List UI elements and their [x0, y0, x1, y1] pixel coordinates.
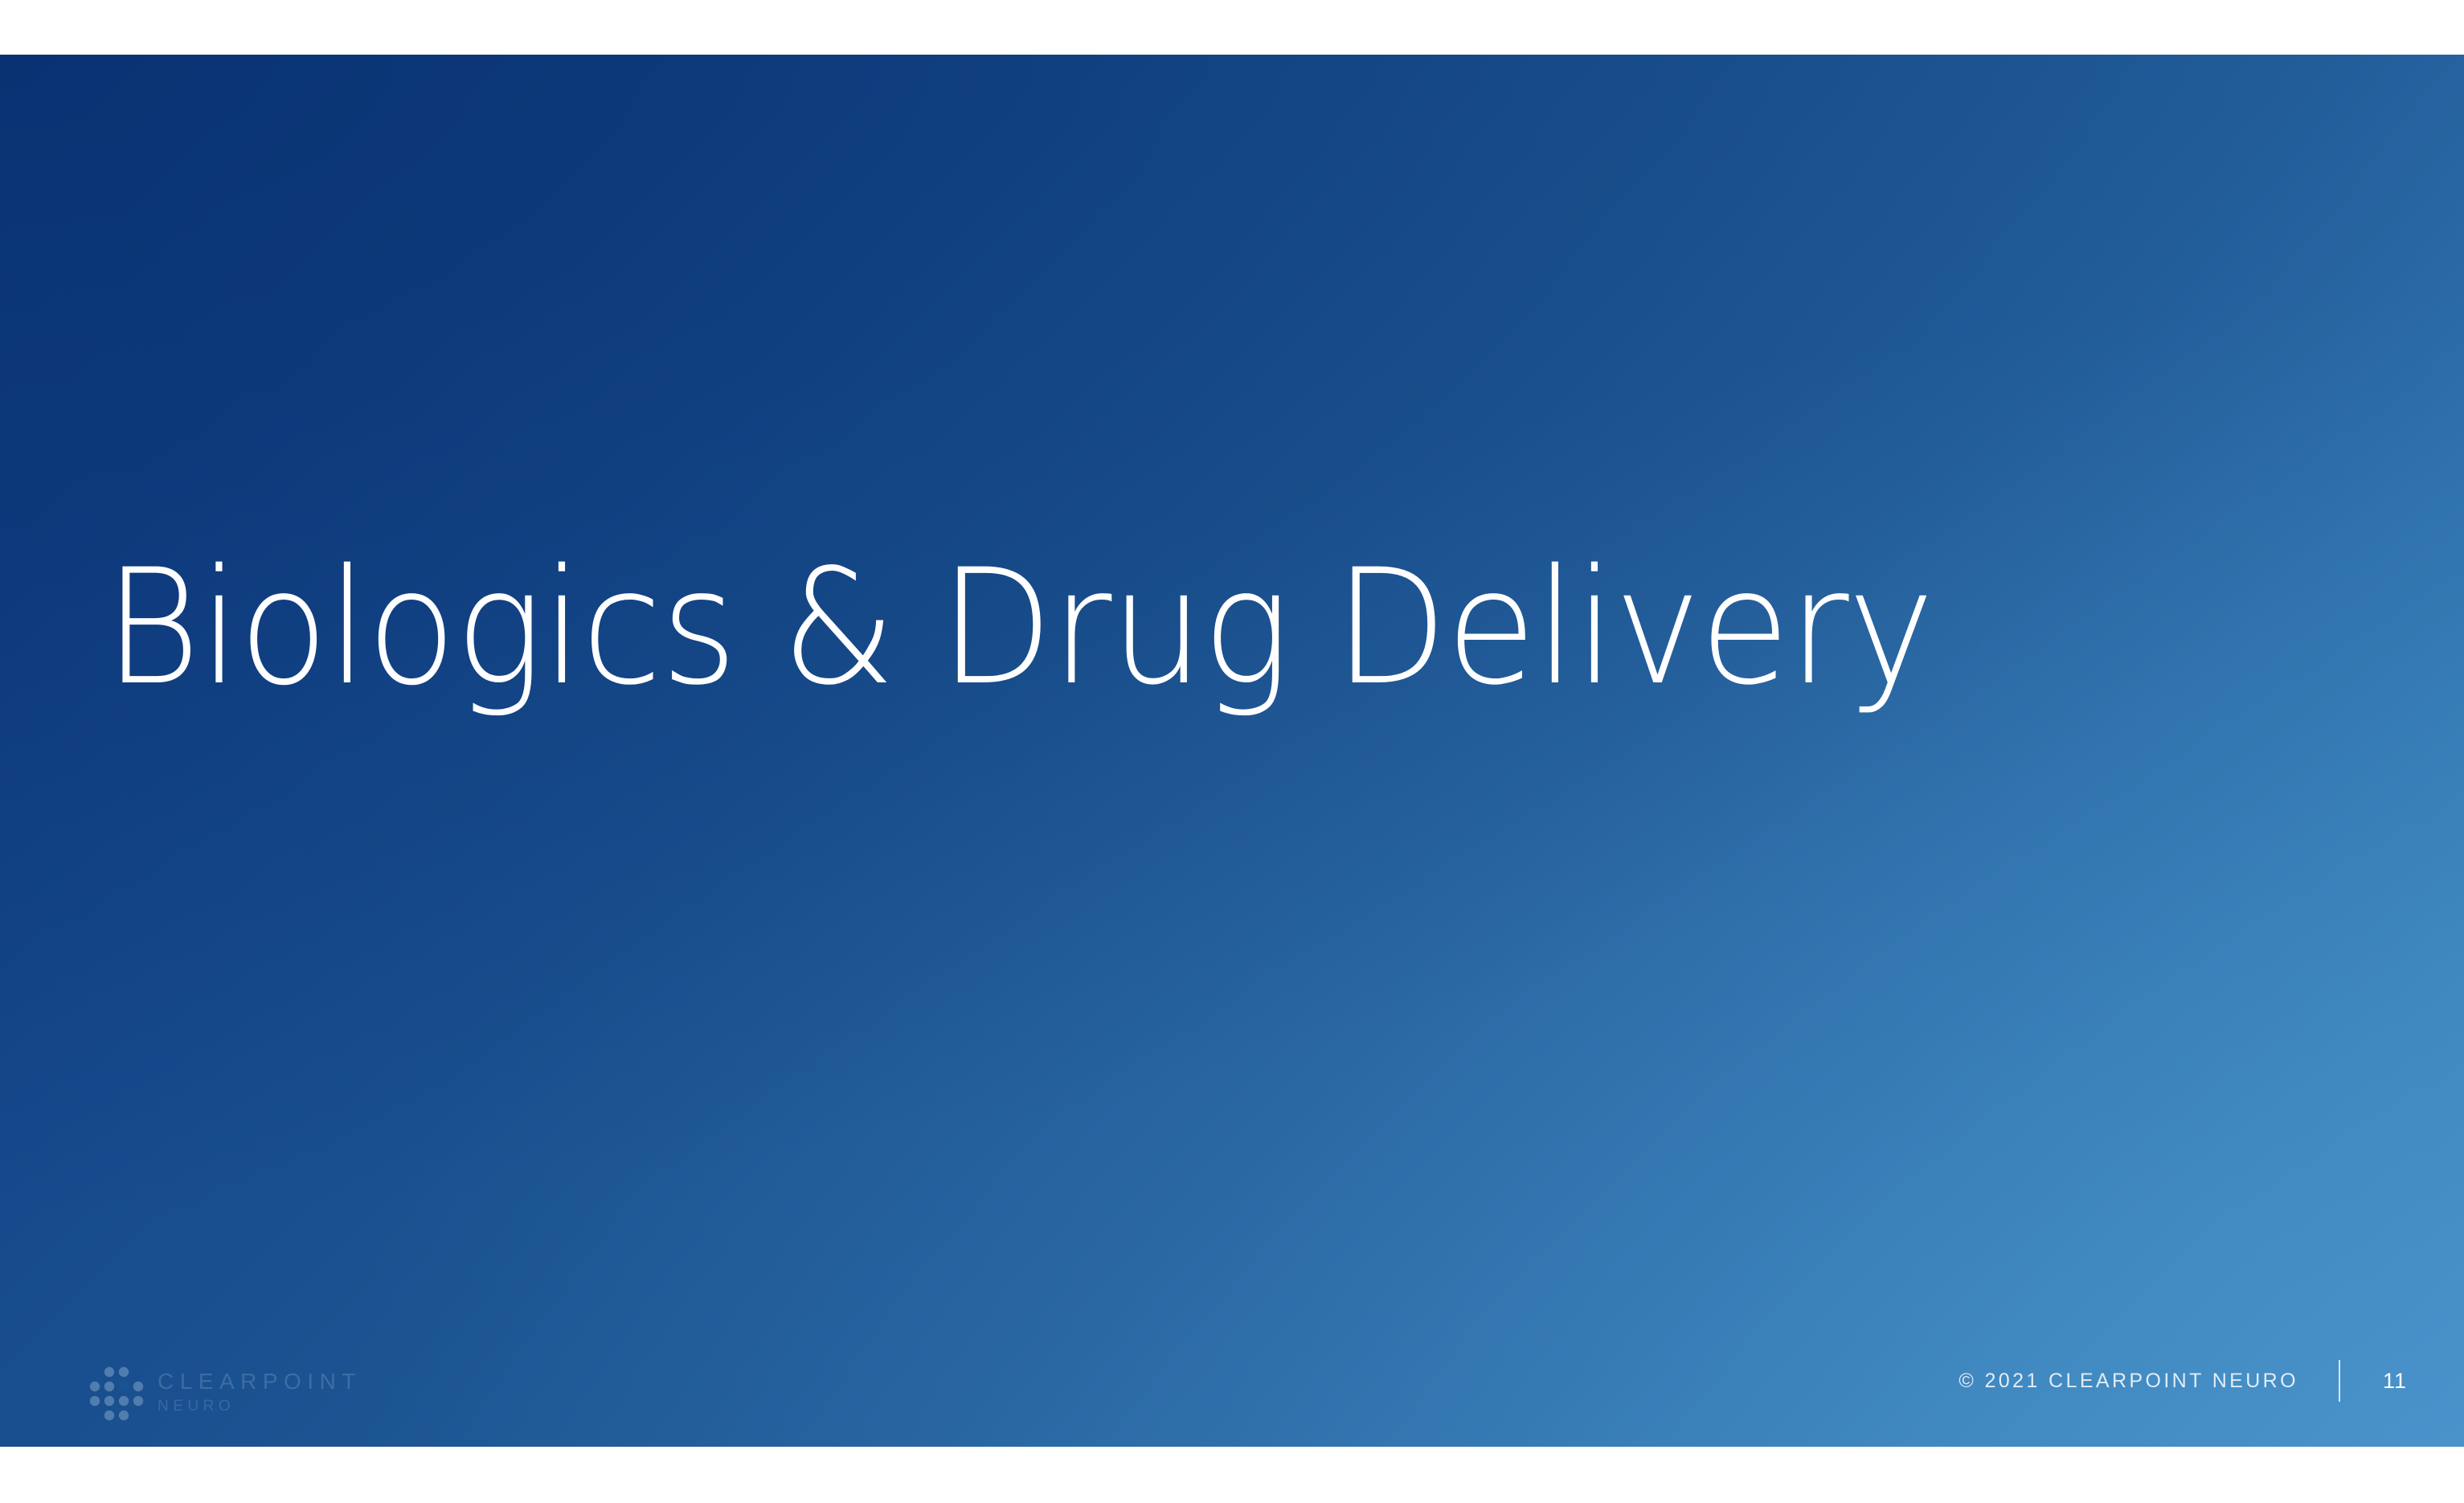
slide-footer: © 2021 CLEARPOINT NEURO 11: [1959, 1353, 2411, 1409]
page-title: Biologics & Drug Delivery: [104, 543, 1953, 712]
logo-name: CLEARPOINT: [158, 1370, 362, 1393]
dot-diamond-icon: [87, 1363, 146, 1423]
page-number: 11: [2379, 1369, 2411, 1394]
title-block: Biologics & Drug Delivery: [104, 543, 2114, 712]
logo-subname: NEURO: [158, 1399, 362, 1414]
brand-logo: CLEARPOINT NEURO: [87, 1357, 424, 1429]
logo-wordmark: CLEARPOINT NEURO: [158, 1370, 362, 1415]
slide-page: Biologics & Drug Delivery: [0, 0, 2464, 1503]
copyright-text: © 2021 CLEARPOINT NEURO: [1959, 1370, 2298, 1393]
slide-background: Biologics & Drug Delivery: [0, 55, 2464, 1447]
footer-divider: [2339, 1360, 2340, 1402]
